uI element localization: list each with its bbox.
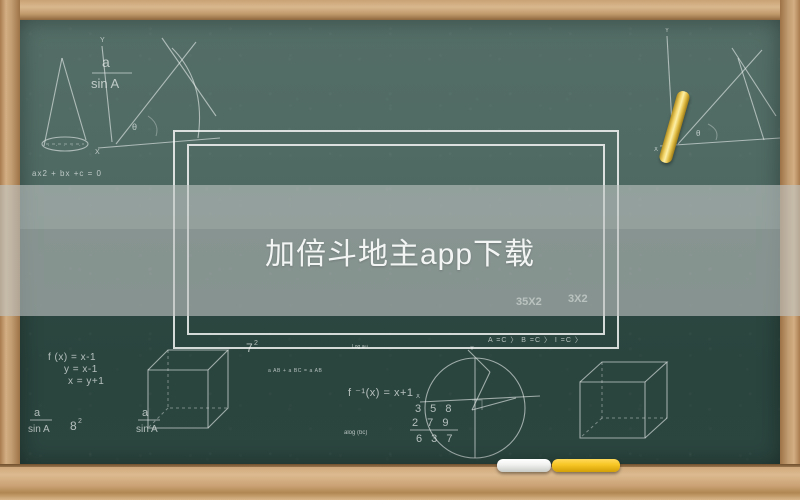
caption-band: 加倍斗地主app下载	[0, 185, 800, 316]
page-title: 加倍斗地主app下载	[265, 229, 535, 273]
yellow-chalk-stick-ledge	[552, 459, 620, 472]
frame-top-rail	[0, 0, 800, 20]
chalkboard-banner: . . . . . a sin A Y X θ ax2 + bx +c = 0 …	[0, 0, 800, 500]
chalk-ledge	[0, 464, 800, 500]
white-chalk-stick	[497, 459, 551, 472]
